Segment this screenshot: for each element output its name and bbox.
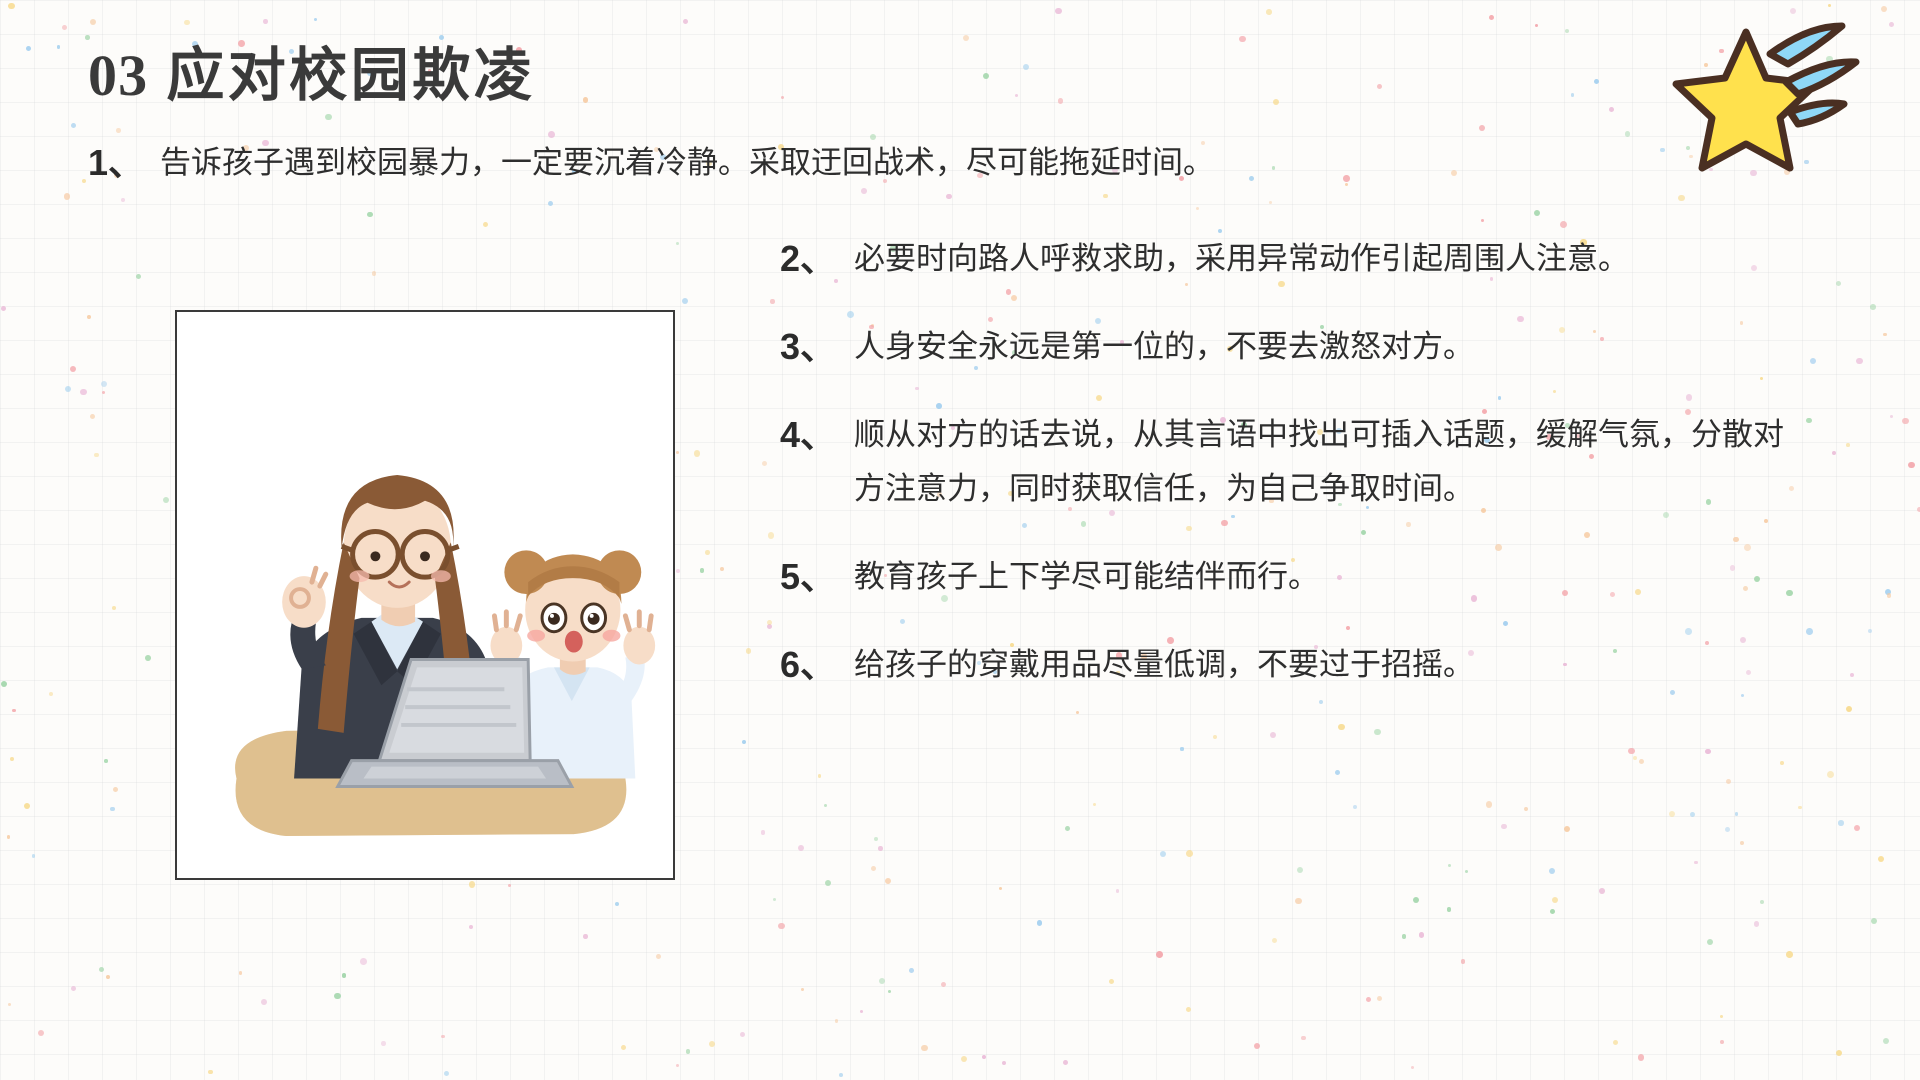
list-item-index: 2、 <box>780 232 854 286</box>
list-item: 4、 顺从对方的话去说，从其言语中找出可插入话题，缓解气氛，分散对方注意力，同时… <box>780 408 1860 516</box>
page-title: 03应对校园欺凌 <box>88 28 535 112</box>
section-title-text: 应对校园欺凌 <box>166 43 535 108</box>
list-item: 1、 告诉孩子遇到校园暴力，一定要沉着冷静。采取迂回战术，尽可能拖延时间。 <box>88 140 1388 186</box>
list-item-text: 告诉孩子遇到校园暴力，一定要沉着冷静。采取迂回战术，尽可能拖延时间。 <box>160 140 1214 186</box>
list-item: 3、 人身安全永远是第一位的，不要去激怒对方。 <box>780 320 1860 374</box>
list-item-index: 5、 <box>780 550 854 604</box>
slide-canvas: 03应对校园欺凌 1、 告诉孩子遇到校园暴力，一定要沉着冷静。采取迂回战术，尽可… <box>0 0 1920 1080</box>
illustration-frame <box>175 310 675 880</box>
list-item-index: 6、 <box>780 638 854 692</box>
list-item: 5、 教育孩子上下学尽可能结伴而行。 <box>780 550 1860 604</box>
list-item-text: 教育孩子上下学尽可能结伴而行。 <box>854 550 1319 604</box>
list-item: 2、 必要时向路人呼救求助，采用异常动作引起周围人注意。 <box>780 232 1860 286</box>
list-item-text: 人身安全永远是第一位的，不要去激怒对方。 <box>854 320 1474 374</box>
list-item-text: 顺从对方的话去说，从其言语中找出可插入话题，缓解气氛，分散对方注意力，同时获取信… <box>854 408 1794 516</box>
list-item-text: 给孩子的穿戴用品尽量低调，不要过于招摇。 <box>854 638 1474 692</box>
section-number: 03 <box>88 43 148 108</box>
list-item-index: 4、 <box>780 408 854 462</box>
list-item-text: 必要时向路人呼救求助，采用异常动作引起周围人注意。 <box>854 232 1629 286</box>
right-column-list: 2、 必要时向路人呼救求助，采用异常动作引起周围人注意。 3、 人身安全永远是第… <box>780 232 1860 726</box>
list-item-index: 3、 <box>780 320 854 374</box>
shooting-star-icon <box>1630 20 1860 195</box>
list-item-index: 1、 <box>88 140 160 186</box>
list-item: 6、 给孩子的穿戴用品尽量低调，不要过于招摇。 <box>780 638 1860 692</box>
